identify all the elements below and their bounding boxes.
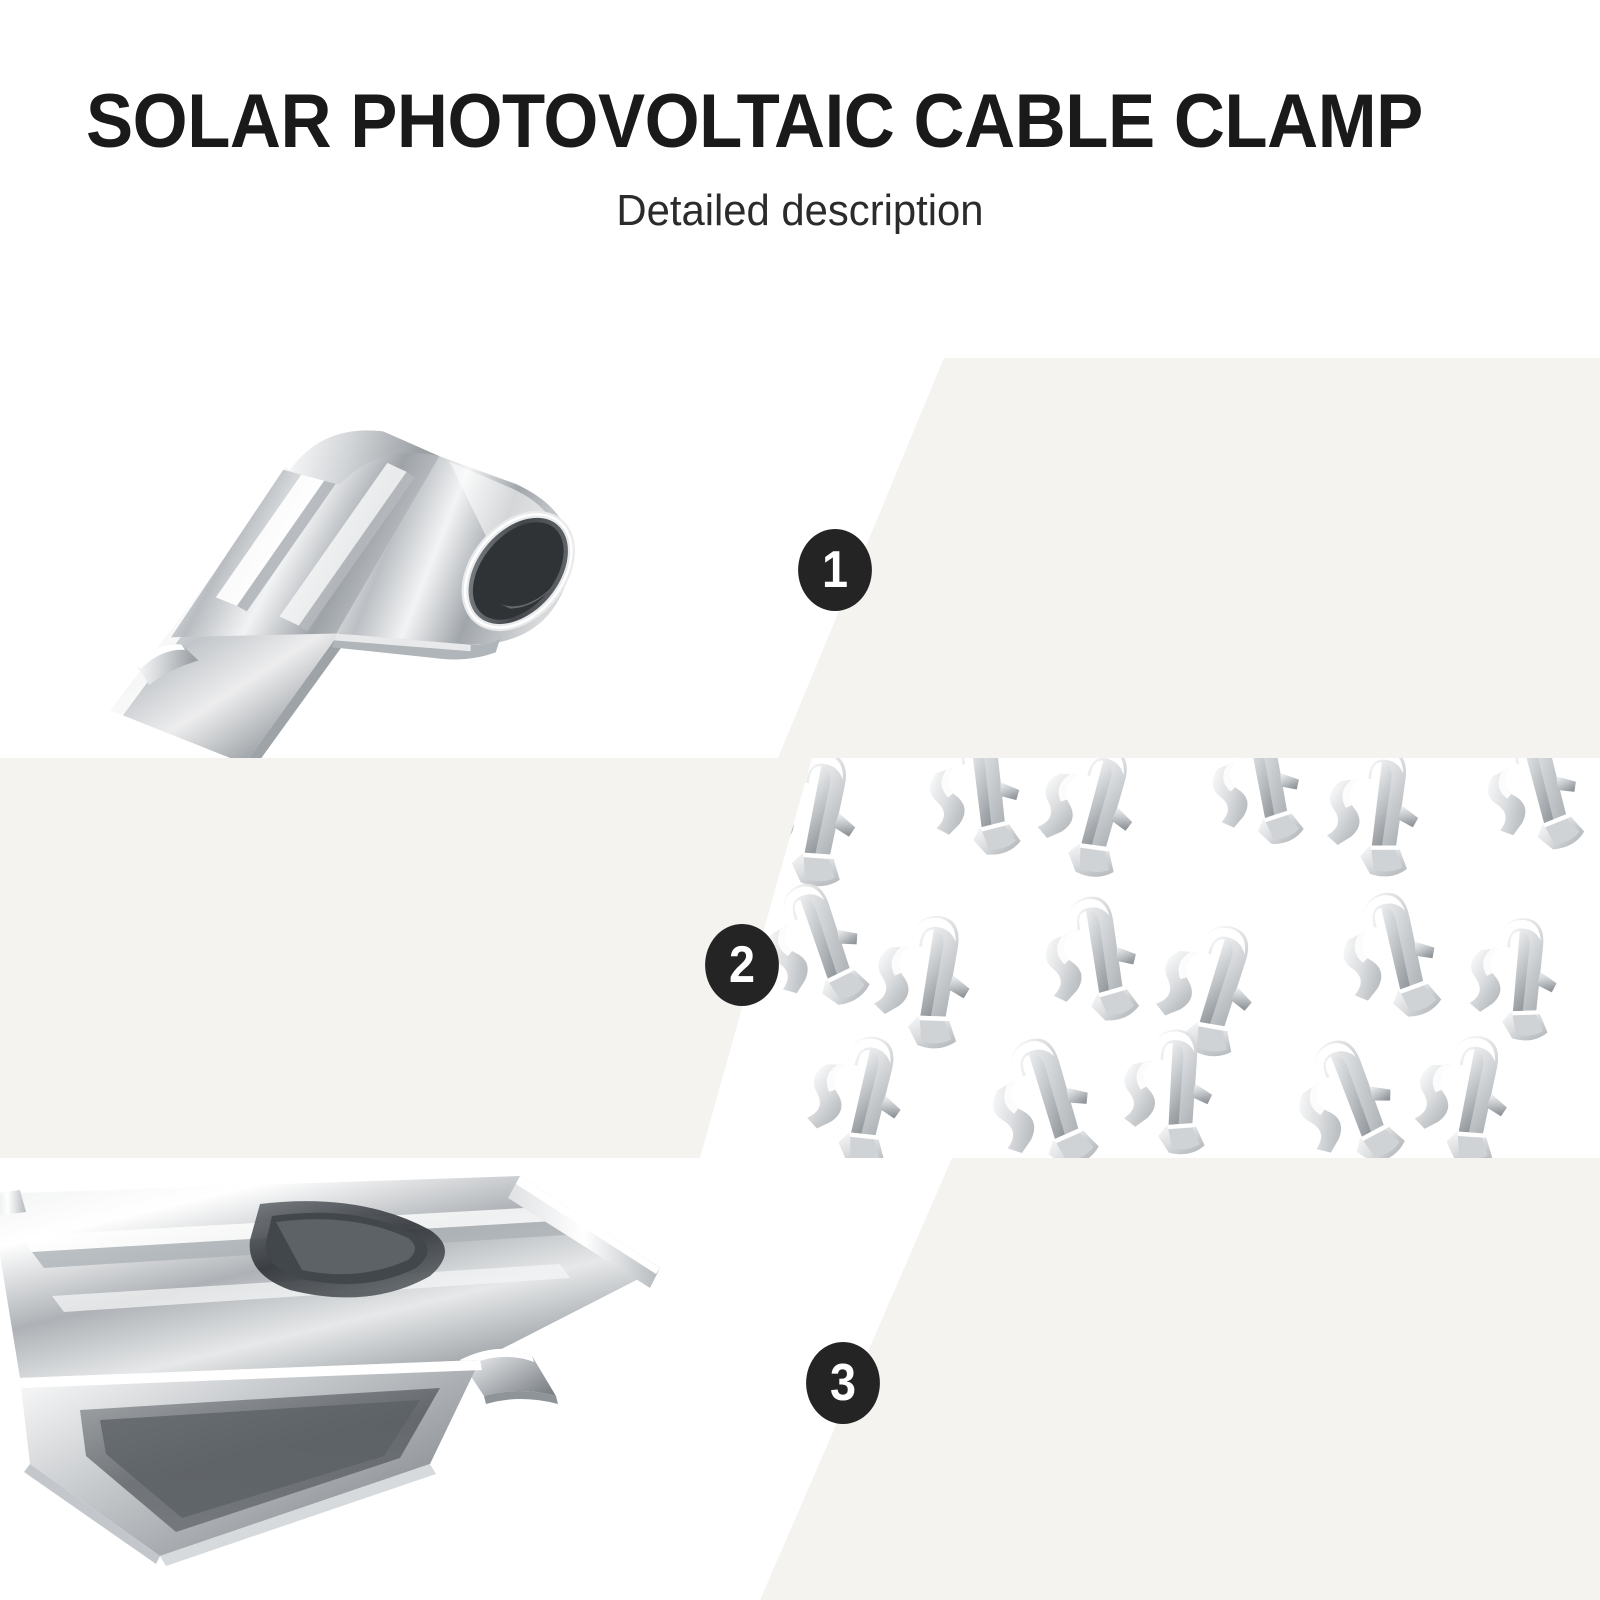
product-photo-single-clamp <box>0 358 780 758</box>
product-photo-many-clamps <box>760 758 1600 1158</box>
page-subtitle: Detailed description <box>40 186 1560 236</box>
feature-badge-3: 3 <box>806 1342 880 1424</box>
feature-badge-1: 1 <box>798 529 872 611</box>
feature-band-2: A LOT OF THEM <box>0 758 1600 1158</box>
feature-badge-2: 2 <box>705 924 779 1006</box>
header-section: SOLAR PHOTOVOLTAIC CABLE CLAMP Detailed … <box>0 0 1600 358</box>
product-photo-clamp-detail <box>0 1158 860 1600</box>
product-infographic: SOLAR PHOTOVOLTAIC CABLE CLAMP Detailed … <box>0 0 1600 1600</box>
page-title: SOLAR PHOTOVOLTAIC CABLE CLAMP <box>86 84 1425 160</box>
feature-band-3: FINE WORKMANSHIP <box>0 1158 1600 1600</box>
